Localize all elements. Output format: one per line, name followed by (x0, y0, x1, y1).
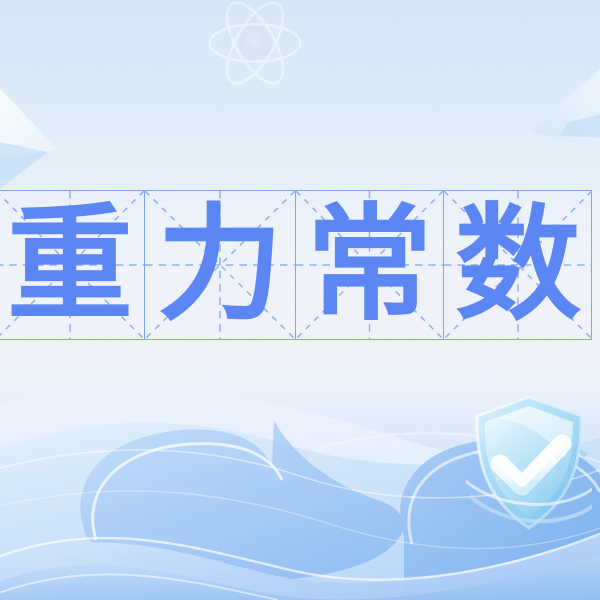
grid-cell: 重 (0, 191, 145, 339)
grid-character: 数 (444, 191, 592, 339)
grid-character: 重 (0, 191, 144, 339)
wave-far (0, 423, 600, 600)
grid-character: 力 (145, 191, 295, 339)
triangle-accent-left (0, 78, 58, 196)
check-mark (500, 442, 562, 486)
wave-petal-right (400, 439, 600, 600)
grid-cell: 数 (444, 191, 592, 339)
wave-wash (0, 388, 600, 600)
atom-orbital-icon (196, 0, 314, 102)
wave-front (0, 552, 600, 600)
grid-character: 常 (296, 191, 443, 339)
page-title: 重力常数 (0, 0, 1, 1)
triangle-accent-right (530, 60, 600, 150)
character-practice-grid: 重 力 (0, 190, 592, 340)
shield-check-icon (466, 392, 592, 534)
wave-petal-left (80, 420, 403, 582)
wave-mid (0, 532, 600, 600)
grid-cell: 常 (296, 191, 444, 339)
grid-cell: 力 (145, 191, 296, 339)
poster-canvas: 重 力 (0, 0, 600, 600)
